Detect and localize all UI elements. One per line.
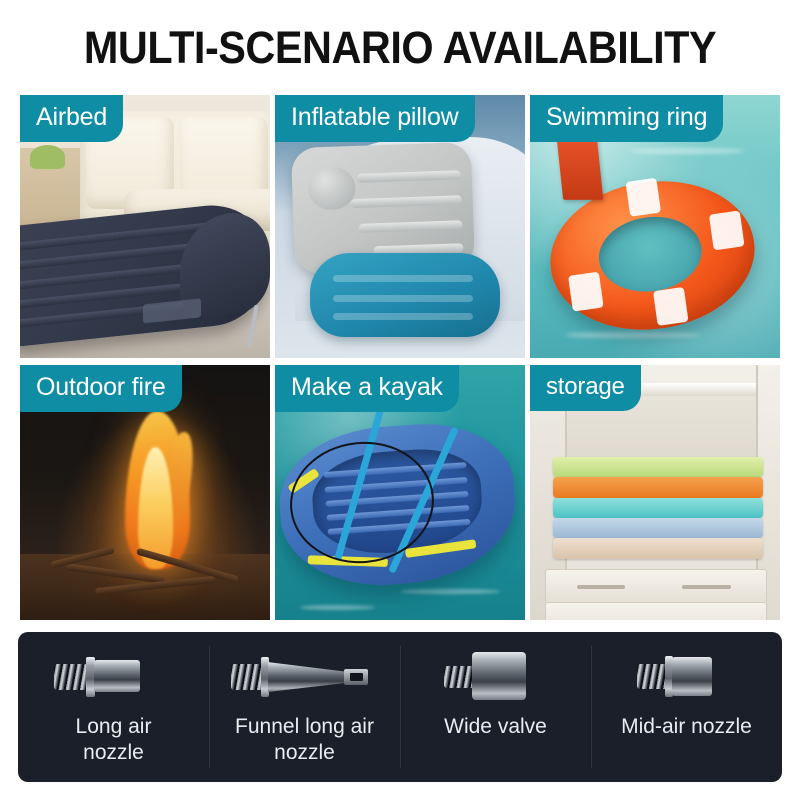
scenario-tile-airbed[interactable]: Airbed [20, 95, 270, 358]
scenario-label-inflatable-pillow: Inflatable pillow [275, 95, 475, 142]
accessory-item-long-air-nozzle[interactable]: Long air nozzle [18, 632, 209, 782]
scenario-label-make-a-kayak: Make a kayak [275, 365, 459, 412]
wide-valve-icon [416, 644, 576, 706]
accessory-label: Long air nozzle [44, 714, 184, 766]
mid-air-nozzle-icon [607, 644, 767, 706]
page-title: MULTI-SCENARIO AVAILABILITY [32, 22, 768, 74]
product-feature-page: MULTI-SCENARIO AVAILABILITY [0, 0, 800, 800]
scenario-tile-make-a-kayak[interactable]: Make a kayak [275, 365, 525, 620]
accessory-item-wide-valve[interactable]: Wide valve [400, 632, 591, 782]
long-air-nozzle-icon [34, 644, 194, 706]
scenario-label-storage: storage [530, 365, 641, 411]
scenario-tile-inflatable-pillow[interactable]: Inflatable pillow [275, 95, 525, 358]
scenario-grid: Airbed Inflatable pill [20, 95, 780, 620]
scenario-label-outdoor-fire: Outdoor fire [20, 365, 182, 412]
scenario-tile-storage[interactable]: storage [530, 365, 780, 620]
scenario-label-swimming-ring: Swimming ring [530, 95, 723, 142]
accessories-panel: Long air nozzle Funnel long air nozzle W… [18, 632, 782, 782]
accessory-label: Wide valve [444, 714, 547, 740]
funnel-long-air-nozzle-icon [225, 644, 385, 706]
scenario-label-airbed: Airbed [20, 95, 123, 142]
accessory-item-mid-air-nozzle[interactable]: Mid-air nozzle [591, 632, 782, 782]
accessory-item-funnel-long-air-nozzle[interactable]: Funnel long air nozzle [209, 632, 400, 782]
accessory-label: Funnel long air nozzle [235, 714, 375, 766]
scenario-tile-swimming-ring[interactable]: Swimming ring [530, 95, 780, 358]
scenario-tile-outdoor-fire[interactable]: Outdoor fire [20, 365, 270, 620]
accessory-label: Mid-air nozzle [621, 714, 752, 740]
